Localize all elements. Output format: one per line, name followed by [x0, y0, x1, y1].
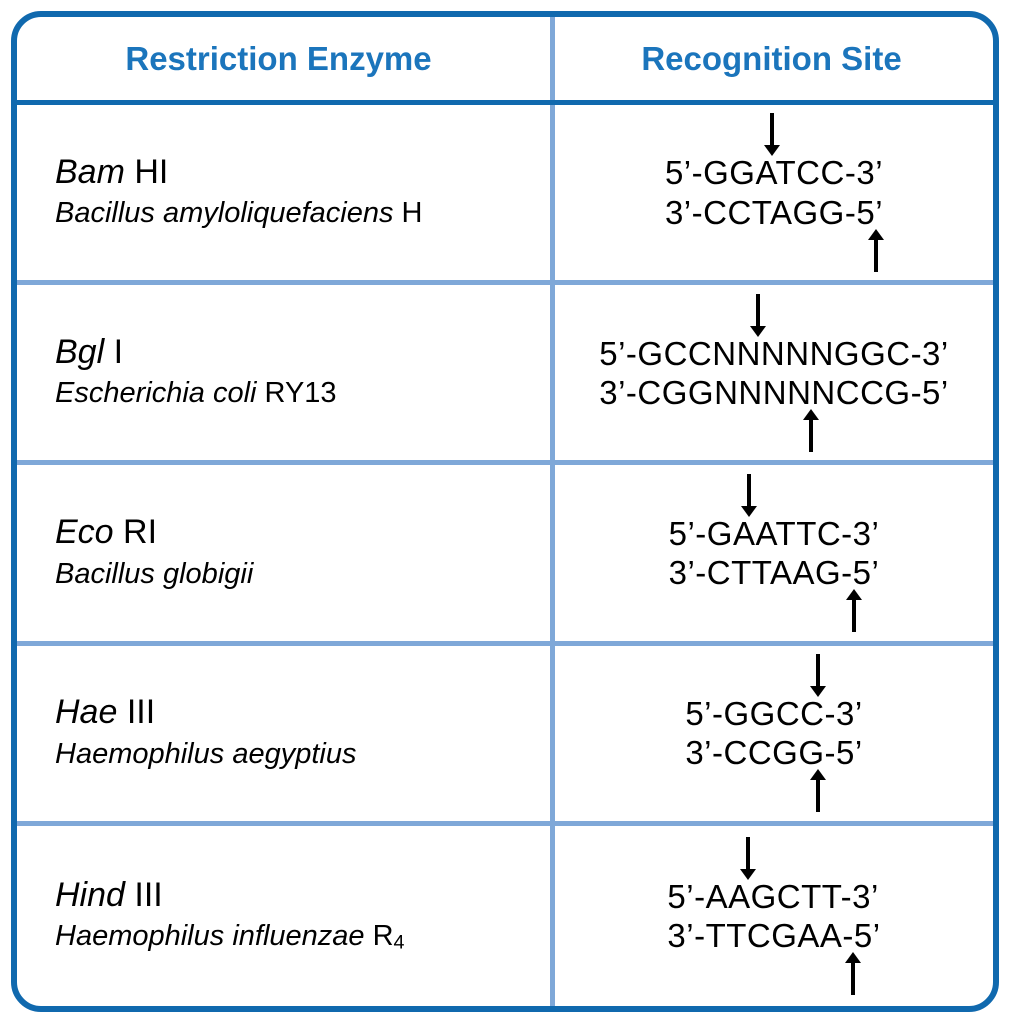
enzyme-genus-abbrev: Eco	[55, 513, 114, 551]
top-strand: 5’-GCCNNNNNGGC-3’	[599, 334, 949, 373]
enzyme-roman-number: III	[125, 876, 163, 914]
recognition-site-cell: 5’-GAATTC-3’ 3’-CTTAAG-5’	[550, 465, 993, 640]
header-cell-site: Recognition Site	[550, 17, 993, 100]
organism-species: Haemophilus aegyptius	[55, 738, 356, 770]
enzyme-genus-abbrev: Hae	[55, 693, 117, 731]
organism-species: Bacillus globigii	[55, 558, 253, 590]
cut-arrow-down-icon	[746, 837, 750, 871]
enzyme-name: Eco RI	[55, 512, 540, 553]
organism-name: Haemophilus influenzae R4	[55, 918, 540, 956]
enzyme-name: Hae III	[55, 692, 540, 733]
enzyme-genus-abbrev: Bam	[55, 153, 125, 191]
table-row: Hae III Haemophilus aegyptius 5’-GGCC-3’…	[17, 646, 993, 826]
enzyme-roman-number: RI	[114, 513, 157, 551]
enzyme-name: Bgl I	[55, 332, 540, 373]
top-strand: 5’-GGCC-3’	[685, 694, 862, 733]
enzyme-genus-abbrev: Bgl	[55, 333, 104, 371]
organism-species: Haemophilus influenzae	[55, 920, 365, 952]
bottom-strand: 3’-CCGG-5’	[685, 733, 862, 772]
enzyme-roman-number: I	[104, 333, 123, 371]
organism-strain-subscript: 4	[394, 932, 405, 954]
enzyme-genus-abbrev: Hind	[55, 876, 125, 914]
cut-arrow-up-icon	[874, 238, 878, 272]
column-header-recognition-site: Recognition Site	[641, 40, 901, 78]
cut-arrow-up-icon	[851, 961, 855, 995]
organism-name: Haemophilus aegyptius	[55, 736, 540, 774]
table-row: Bam HI Bacillus amyloliquefaciens H 5’-G…	[17, 105, 993, 285]
organism-name: Escherichia coli RY13	[55, 375, 540, 413]
cut-arrow-up-icon	[852, 598, 856, 632]
organism-strain-text: RY13	[256, 377, 336, 409]
cut-arrow-down-icon	[747, 474, 751, 508]
organism-strain: H	[394, 197, 423, 229]
cut-arrow-down-icon	[816, 654, 820, 688]
enzyme-name: Hind III	[55, 875, 540, 916]
cut-arrow-down-icon	[770, 113, 774, 147]
table-row: Eco RI Bacillus globigii 5’-GAATTC-3’ 3’…	[17, 465, 993, 645]
sequence-block: 5’-AAGCTT-3’ 3’-TTCGAA-5’	[667, 877, 880, 956]
bottom-strand: 3’-CTTAAG-5’	[669, 553, 880, 592]
table-row: Hind III Haemophilus influenzae R4 5’-AA…	[17, 826, 993, 1006]
enzyme-roman-number: HI	[125, 153, 168, 191]
table-header-row: Restriction Enzyme Recognition Site	[17, 17, 993, 105]
bottom-strand: 3’-TTCGAA-5’	[667, 916, 880, 955]
enzyme-cell: Bam HI Bacillus amyloliquefaciens H	[17, 105, 550, 280]
top-strand: 5’-GAATTC-3’	[669, 514, 880, 553]
enzyme-cell: Bgl I Escherichia coli RY13	[17, 285, 550, 460]
enzyme-cell: Hae III Haemophilus aegyptius	[17, 646, 550, 821]
organism-species: Bacillus amyloliquefaciens	[55, 197, 394, 229]
top-strand: 5’-AAGCTT-3’	[667, 877, 880, 916]
header-cell-enzyme: Restriction Enzyme	[17, 17, 550, 100]
bottom-strand: 3’-CGGNNNNNCCG-5’	[599, 373, 949, 412]
top-strand: 5’-GGATCC-3’	[665, 153, 883, 192]
column-header-restriction-enzyme: Restriction Enzyme	[125, 40, 431, 78]
organism-strain: RY13	[256, 377, 336, 409]
cut-arrow-down-icon	[756, 294, 760, 328]
sequence-block: 5’-GGCC-3’ 3’-CCGG-5’	[685, 694, 862, 773]
recognition-site-cell: 5’-GGCC-3’ 3’-CCGG-5’	[550, 646, 993, 821]
bottom-strand: 3’-CCTAGG-5’	[665, 193, 883, 232]
organism-strain: R4	[365, 920, 405, 952]
organism-name: Bacillus globigii	[55, 556, 540, 594]
organism-strain-text: R	[365, 920, 394, 952]
enzyme-cell: Hind III Haemophilus influenzae R4	[17, 826, 550, 1006]
recognition-site-cell: 5’-GGATCC-3’ 3’-CCTAGG-5’	[550, 105, 993, 280]
recognition-site-cell: 5’-GCCNNNNNGGC-3’ 3’-CGGNNNNNCCG-5’	[550, 285, 993, 460]
sequence-block: 5’-GAATTC-3’ 3’-CTTAAG-5’	[669, 514, 880, 593]
sequence-block: 5’-GGATCC-3’ 3’-CCTAGG-5’	[665, 153, 883, 232]
sequence-block: 5’-GCCNNNNNGGC-3’ 3’-CGGNNNNNCCG-5’	[599, 334, 949, 413]
cut-arrow-up-icon	[809, 418, 813, 452]
recognition-site-cell: 5’-AAGCTT-3’ 3’-TTCGAA-5’	[550, 826, 993, 1006]
organism-species: Escherichia coli	[55, 377, 256, 409]
organism-strain-text: H	[394, 197, 423, 229]
enzyme-cell: Eco RI Bacillus globigii	[17, 465, 550, 640]
organism-name: Bacillus amyloliquefaciens H	[55, 195, 540, 233]
table-row: Bgl I Escherichia coli RY13 5’-GCCNNNNNG…	[17, 285, 993, 465]
restriction-enzyme-table: Restriction Enzyme Recognition Site Bam …	[11, 11, 999, 1012]
enzyme-name: Bam HI	[55, 152, 540, 193]
cut-arrow-up-icon	[816, 778, 820, 812]
enzyme-roman-number: III	[117, 693, 155, 731]
table-grid: Restriction Enzyme Recognition Site Bam …	[17, 17, 993, 1006]
